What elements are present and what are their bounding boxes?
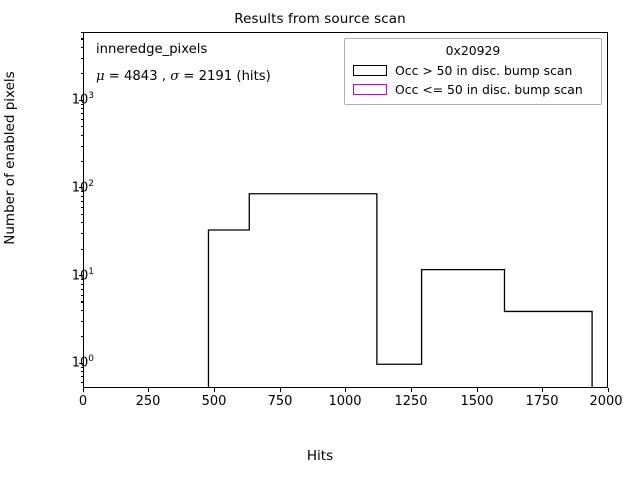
stats-separator: , [162, 69, 170, 84]
x-tick-label-1250: 1250 [394, 394, 427, 409]
y-minor-tick [81, 371, 83, 372]
mu-equals: = [109, 69, 124, 84]
y-minor-tick [81, 201, 83, 202]
legend-entry-occ-below-50[interactable]: Occ <= 50 in disc. bump scan [351, 80, 595, 99]
annotation-dataset-name: inneredge_pixels [96, 42, 271, 57]
y-minor-tick [81, 146, 83, 147]
y-minor-tick [81, 336, 83, 337]
stats-units: (hits) [236, 69, 270, 84]
legend-title: 0x20929 [351, 43, 595, 58]
y-minor-tick [81, 113, 83, 114]
x-tick-2000 [608, 388, 609, 392]
legend-swatch-magenta [353, 84, 387, 95]
y-minor-tick [81, 301, 83, 302]
x-axis-label: Hits [0, 448, 640, 464]
x-tick-750 [280, 388, 281, 392]
y-minor-tick [81, 191, 83, 192]
y-minor-tick [81, 161, 83, 162]
x-tick-label-1000: 1000 [328, 394, 361, 409]
histogram-outline-primary [208, 194, 592, 387]
x-tick-label-750: 750 [268, 394, 293, 409]
y-minor-tick [81, 279, 83, 280]
y-minor-tick [81, 73, 83, 74]
y-minor-tick [81, 233, 83, 234]
y-minor-tick [81, 38, 83, 39]
y-minor-tick [81, 135, 83, 136]
chart-title: Results from source scan [0, 11, 640, 27]
y-minor-tick [81, 310, 83, 311]
x-tick-1250 [411, 388, 412, 392]
y-minor-tick [81, 249, 83, 250]
y-tick-label-10: 101 [72, 268, 94, 283]
y-minor-tick [81, 367, 83, 368]
y-tick-label-1: 100 [72, 356, 94, 371]
x-tick-1000 [345, 388, 346, 392]
x-tick-label-500: 500 [202, 394, 227, 409]
y-minor-tick [81, 58, 83, 59]
x-tick-label-0: 0 [79, 394, 87, 409]
y-minor-tick [81, 119, 83, 120]
y-minor-tick [81, 222, 83, 223]
x-tick-250 [148, 388, 149, 392]
y-minor-tick [81, 382, 83, 383]
annotation-statistics: μ = 4843 , σ = 2191 (hits) [96, 69, 271, 84]
y-minor-tick [81, 32, 83, 33]
legend-box: 0x20929 Occ > 50 in disc. bump scan Occ … [344, 38, 602, 105]
chart-figure: Results from source scan Number of enabl… [0, 0, 640, 480]
y-minor-tick [81, 126, 83, 127]
y-minor-tick [81, 47, 83, 48]
y-tick-label-100: 102 [72, 180, 94, 195]
sigma-symbol: σ [170, 69, 179, 84]
x-tick-0 [83, 388, 84, 392]
legend-label-occ-below-50: Occ <= 50 in disc. bump scan [395, 82, 583, 97]
sigma-value: 2191 [199, 69, 233, 84]
y-minor-tick [81, 321, 83, 322]
plot-annotations: inneredge_pixels μ = 4843 , σ = 2191 (hi… [96, 42, 271, 84]
y-minor-tick [81, 295, 83, 296]
x-tick-500 [214, 388, 215, 392]
y-minor-tick [81, 207, 83, 208]
sigma-equals: = [183, 69, 198, 84]
y-minor-tick [81, 289, 83, 290]
mu-value: 4843 [124, 69, 158, 84]
legend-label-occ-above-50: Occ > 50 in disc. bump scan [395, 63, 572, 78]
legend-entry-occ-above-50[interactable]: Occ > 50 in disc. bump scan [351, 61, 595, 80]
x-tick-label-250: 250 [136, 394, 161, 409]
x-tick-1500 [477, 388, 478, 392]
y-minor-tick [81, 376, 83, 377]
x-tick-label-2000: 2000 [589, 394, 622, 409]
y-minor-tick [81, 214, 83, 215]
x-tick-label-1750: 1750 [525, 394, 558, 409]
y-minor-tick [81, 196, 83, 197]
y-tick-label-1000: 103 [72, 93, 94, 108]
x-tick-label-1500: 1500 [460, 394, 493, 409]
legend-swatch-black [353, 65, 387, 76]
y-minor-tick [81, 104, 83, 105]
mu-symbol: μ [96, 69, 105, 84]
y-minor-tick [81, 108, 83, 109]
y-axis-label: Number of enabled pixels [2, 0, 18, 338]
y-minor-tick [81, 284, 83, 285]
x-tick-1750 [542, 388, 543, 392]
